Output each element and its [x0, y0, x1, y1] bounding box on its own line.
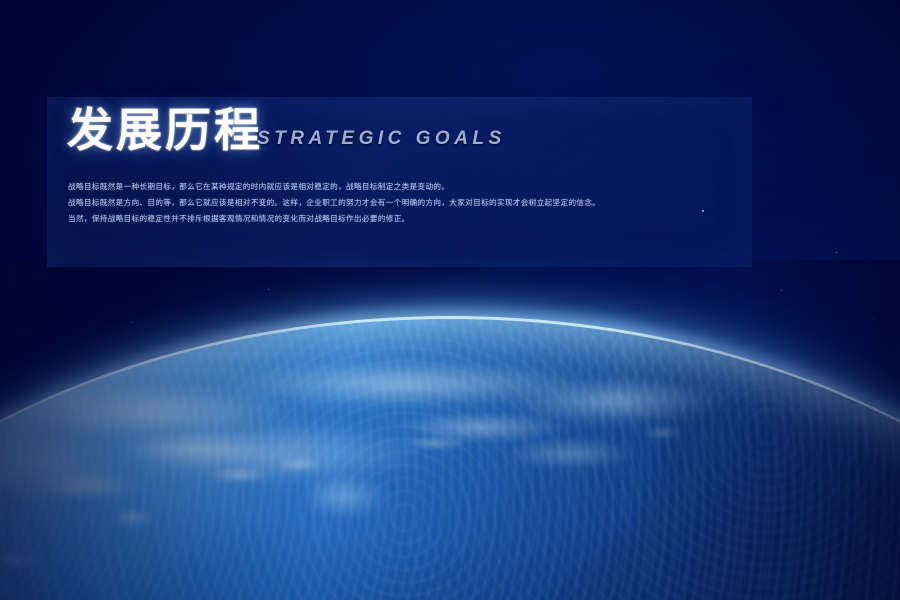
body-copy: 战略目标既然是一种长期目标，那么它在某种规定的时内就应该是相对稳定的，战略目标制… — [68, 181, 728, 229]
banner-stage: 发展历程 STRATEGIC GOALS 战略目标既然是一种长期目标，那么它在某… — [0, 0, 900, 600]
star-tiny — [836, 252, 837, 253]
page-subtitle: STRATEGIC GOALS — [257, 128, 506, 150]
page-title: 发展历程 — [67, 107, 263, 153]
body-paragraph: 战略目标既然是方向、目的等，那么它就应该是相对不变的。这样，企业职工的努力才会有… — [68, 197, 728, 208]
earth-globe — [0, 260, 900, 600]
body-paragraph: 战略目标既然是一种长期目标，那么它在某种规定的时内就应该是相对稳定的，战略目标制… — [68, 181, 728, 192]
headline-panel: 发展历程 STRATEGIC GOALS 战略目标既然是一种长期目标，那么它在某… — [47, 97, 752, 267]
title-row: 发展历程 STRATEGIC GOALS — [67, 107, 506, 153]
body-paragraph: 当然，保持战略目标的稳定性并不排斥根据客观情况和情况的变化而对战略目标作出必要的… — [68, 213, 728, 224]
earth-surface — [0, 316, 900, 600]
